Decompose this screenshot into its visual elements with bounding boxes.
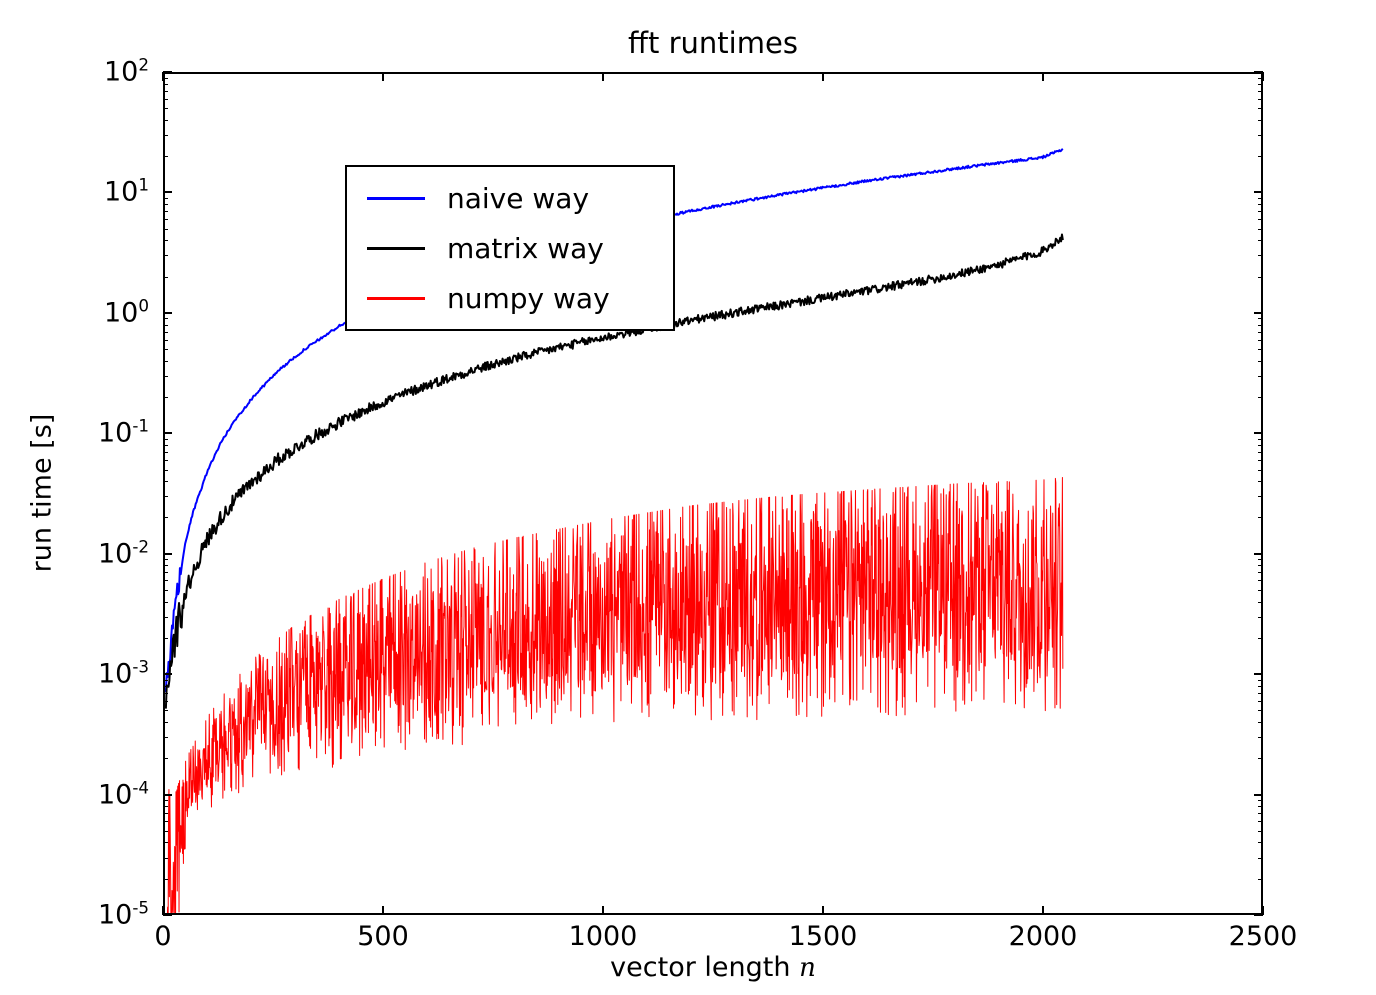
- y-axis-minor-tick-right: [1258, 496, 1263, 497]
- y-axis-minor-tick-right: [1258, 806, 1263, 807]
- y-axis-minor-tick-right: [1258, 376, 1263, 377]
- y-axis-minor-tick-right: [1258, 821, 1263, 822]
- legend-label-numpy: numpy way: [447, 282, 610, 315]
- x-axis-tick-top: [162, 72, 164, 81]
- y-axis-minor-tick-right: [1258, 135, 1263, 136]
- y-axis-tick: [163, 191, 172, 193]
- y-axis-minor-tick: [163, 758, 168, 759]
- y-axis-minor-tick-right: [1258, 91, 1263, 92]
- x-axis-tick: [822, 906, 824, 915]
- y-axis-minor-tick-right: [1258, 842, 1263, 843]
- y-axis-minor-tick-right: [1258, 517, 1263, 518]
- y-axis-tick-label: 100: [104, 297, 149, 328]
- y-axis-minor-tick: [163, 806, 168, 807]
- y-axis-minor-tick: [163, 332, 168, 333]
- y-axis-tick-label: 102: [104, 57, 149, 88]
- y-axis-minor-tick: [163, 135, 168, 136]
- y-axis-minor-tick-right: [1258, 318, 1263, 319]
- y-axis-minor-tick-right: [1258, 470, 1263, 471]
- y-axis-minor-tick-right: [1258, 325, 1263, 326]
- y-axis-minor-tick: [163, 349, 168, 350]
- y-axis-tick-right: [1254, 914, 1263, 916]
- legend-swatch-numpy: [367, 297, 425, 300]
- y-axis-minor-tick: [163, 277, 168, 278]
- y-axis-minor-tick: [163, 800, 168, 801]
- y-axis-minor-tick: [163, 229, 168, 230]
- x-axis-tick: [382, 906, 384, 915]
- y-axis-minor-tick-right: [1258, 240, 1263, 241]
- y-axis-minor-tick: [163, 517, 168, 518]
- y-axis-minor-tick-right: [1258, 590, 1263, 591]
- y-axis-minor-tick: [163, 680, 168, 681]
- y-axis-minor-tick: [163, 559, 168, 560]
- y-axis-tick-right: [1254, 71, 1263, 73]
- y-axis-minor-tick: [163, 91, 168, 92]
- y-axis-minor-tick: [163, 693, 168, 694]
- x-axis-label-text: vector length: [610, 952, 790, 983]
- y-axis-minor-tick: [163, 340, 168, 341]
- x-axis-tick-label: 2000: [1009, 921, 1078, 952]
- y-axis-minor-tick-right: [1258, 813, 1263, 814]
- y-axis-minor-tick: [163, 219, 168, 220]
- y-axis-minor-tick-right: [1258, 397, 1263, 398]
- y-axis-tick-label: 10-5: [98, 900, 149, 931]
- x-axis-label-symbol: n: [799, 953, 816, 983]
- y-axis-minor-tick: [163, 240, 168, 241]
- y-axis-minor-tick-right: [1258, 737, 1263, 738]
- y-axis-minor-tick: [163, 84, 168, 85]
- y-axis-minor-tick-right: [1258, 84, 1263, 85]
- x-axis-tick-label: 500: [357, 921, 409, 952]
- y-axis-minor-tick-right: [1258, 108, 1263, 109]
- y-axis-tick-right: [1254, 191, 1263, 193]
- plot-axes-frame: naive way matrix way numpy way: [163, 72, 1263, 915]
- y-axis-minor-tick: [163, 204, 168, 205]
- y-axis-minor-tick-right: [1258, 559, 1263, 560]
- y-axis-minor-tick: [163, 590, 168, 591]
- plot-data-area: [165, 74, 1261, 913]
- y-axis-tick: [163, 553, 172, 555]
- legend-entry-numpy: numpy way: [347, 275, 673, 321]
- y-axis-minor-tick: [163, 78, 168, 79]
- y-axis-minor-tick-right: [1258, 710, 1263, 711]
- y-axis-minor-tick: [163, 879, 168, 880]
- y-axis-minor-tick-right: [1258, 680, 1263, 681]
- y-axis-tick: [163, 312, 172, 314]
- y-axis-minor-tick-right: [1258, 255, 1263, 256]
- x-axis-tick-top: [1262, 72, 1264, 81]
- y-axis-minor-tick: [163, 198, 168, 199]
- y-axis-minor-tick: [163, 580, 168, 581]
- y-axis-minor-tick-right: [1258, 211, 1263, 212]
- y-axis-minor-tick-right: [1258, 219, 1263, 220]
- y-axis-minor-tick-right: [1258, 602, 1263, 603]
- y-axis-minor-tick-right: [1258, 361, 1263, 362]
- y-axis-minor-tick-right: [1258, 198, 1263, 199]
- y-axis-minor-tick: [163, 108, 168, 109]
- y-axis-minor-tick: [163, 737, 168, 738]
- x-axis-tick-top: [822, 72, 824, 81]
- y-axis-minor-tick: [163, 452, 168, 453]
- y-axis-tick: [163, 432, 172, 434]
- y-axis-minor-tick: [163, 701, 168, 702]
- y-axis-minor-tick-right: [1258, 758, 1263, 759]
- x-axis-tick-top: [1042, 72, 1044, 81]
- x-axis-tick-top: [602, 72, 604, 81]
- y-axis-minor-tick: [163, 318, 168, 319]
- y-axis-minor-tick: [163, 397, 168, 398]
- y-axis-minor-tick: [163, 638, 168, 639]
- y-axis-minor-tick-right: [1258, 572, 1263, 573]
- legend-entry-naive: naive way: [347, 175, 673, 221]
- y-axis-tick-label: 10-4: [98, 779, 149, 810]
- y-axis-minor-tick: [163, 710, 168, 711]
- legend-swatch-naive: [367, 197, 425, 200]
- y-axis-minor-tick: [163, 565, 168, 566]
- y-axis-tick: [163, 914, 172, 916]
- y-axis-minor-tick-right: [1258, 481, 1263, 482]
- y-axis-minor-tick: [163, 602, 168, 603]
- y-axis-minor-tick-right: [1258, 460, 1263, 461]
- y-axis-minor-tick: [163, 481, 168, 482]
- y-axis-tick-label: 10-2: [98, 538, 149, 569]
- y-axis-minor-tick: [163, 496, 168, 497]
- y-axis-minor-tick: [163, 617, 168, 618]
- y-axis-tick-label: 10-1: [98, 418, 149, 449]
- y-axis-minor-tick-right: [1258, 439, 1263, 440]
- y-axis-tick: [163, 673, 172, 675]
- y-axis-minor-tick-right: [1258, 701, 1263, 702]
- x-axis-tick: [602, 906, 604, 915]
- x-axis-tick-label: 1500: [789, 921, 858, 952]
- x-axis-tick-label: 1000: [569, 921, 638, 952]
- y-axis-minor-tick-right: [1258, 686, 1263, 687]
- y-axis-tick: [163, 71, 172, 73]
- y-axis-minor-tick: [163, 439, 168, 440]
- y-axis-minor-tick: [163, 842, 168, 843]
- x-axis-tick: [1042, 906, 1044, 915]
- y-axis-tick-label: 10-3: [98, 659, 149, 690]
- y-axis-minor-tick: [163, 572, 168, 573]
- y-axis-minor-tick-right: [1258, 858, 1263, 859]
- y-axis-minor-tick: [163, 831, 168, 832]
- y-axis-tick-right: [1254, 794, 1263, 796]
- y-axis-minor-tick-right: [1258, 277, 1263, 278]
- y-axis-minor-tick: [163, 686, 168, 687]
- y-axis-minor-tick-right: [1258, 452, 1263, 453]
- y-axis-minor-tick-right: [1258, 617, 1263, 618]
- y-axis-minor-tick: [163, 813, 168, 814]
- y-axis-tick-right: [1254, 432, 1263, 434]
- y-axis-minor-tick: [163, 821, 168, 822]
- y-axis-minor-tick: [163, 211, 168, 212]
- y-axis-minor-tick: [163, 470, 168, 471]
- y-axis-minor-tick: [163, 361, 168, 362]
- y-axis-minor-tick: [163, 325, 168, 326]
- legend-entry-matrix: matrix way: [347, 225, 673, 271]
- x-axis-tick-label: 2500: [1229, 921, 1298, 952]
- y-axis-minor-tick-right: [1258, 78, 1263, 79]
- y-axis-minor-tick-right: [1258, 340, 1263, 341]
- y-axis-minor-tick-right: [1258, 800, 1263, 801]
- y-axis-minor-tick-right: [1258, 445, 1263, 446]
- y-axis-minor-tick: [163, 120, 168, 121]
- y-axis-minor-tick-right: [1258, 204, 1263, 205]
- y-axis-minor-tick: [163, 255, 168, 256]
- x-axis-label: vector length n: [163, 952, 1263, 983]
- y-axis-minor-tick: [163, 99, 168, 100]
- y-axis-minor-tick-right: [1258, 638, 1263, 639]
- y-axis-minor-tick: [163, 156, 168, 157]
- y-axis-minor-tick-right: [1258, 332, 1263, 333]
- y-axis-minor-tick-right: [1258, 580, 1263, 581]
- y-axis-label: run time [s]: [23, 72, 63, 915]
- y-axis-tick-right: [1254, 312, 1263, 314]
- y-axis-minor-tick-right: [1258, 693, 1263, 694]
- y-axis-tick: [163, 794, 172, 796]
- y-axis-minor-tick: [163, 722, 168, 723]
- chart-legend: naive way matrix way numpy way: [345, 165, 675, 331]
- legend-swatch-matrix: [367, 247, 425, 250]
- y-axis-minor-tick-right: [1258, 831, 1263, 832]
- legend-label-naive: naive way: [447, 182, 589, 215]
- y-axis-minor-tick-right: [1258, 722, 1263, 723]
- y-axis-minor-tick-right: [1258, 156, 1263, 157]
- y-axis-minor-tick-right: [1258, 565, 1263, 566]
- x-axis-tick-top: [382, 72, 384, 81]
- chart-title: fft runtimes: [163, 28, 1263, 60]
- y-axis-tick-right: [1254, 553, 1263, 555]
- y-axis-minor-tick: [163, 460, 168, 461]
- y-axis-minor-tick: [163, 858, 168, 859]
- y-axis-minor-tick: [163, 445, 168, 446]
- y-axis-minor-tick-right: [1258, 229, 1263, 230]
- y-axis-minor-tick-right: [1258, 120, 1263, 121]
- y-axis-minor-tick-right: [1258, 879, 1263, 880]
- figure-canvas: fft runtimes naive way matrix way numpy …: [0, 0, 1376, 995]
- y-axis-minor-tick: [163, 376, 168, 377]
- x-axis-tick-label: 0: [154, 921, 171, 952]
- y-axis-tick-label: 101: [104, 177, 149, 208]
- legend-label-matrix: matrix way: [447, 232, 604, 265]
- y-axis-minor-tick-right: [1258, 99, 1263, 100]
- y-axis-tick-right: [1254, 673, 1263, 675]
- y-axis-minor-tick-right: [1258, 349, 1263, 350]
